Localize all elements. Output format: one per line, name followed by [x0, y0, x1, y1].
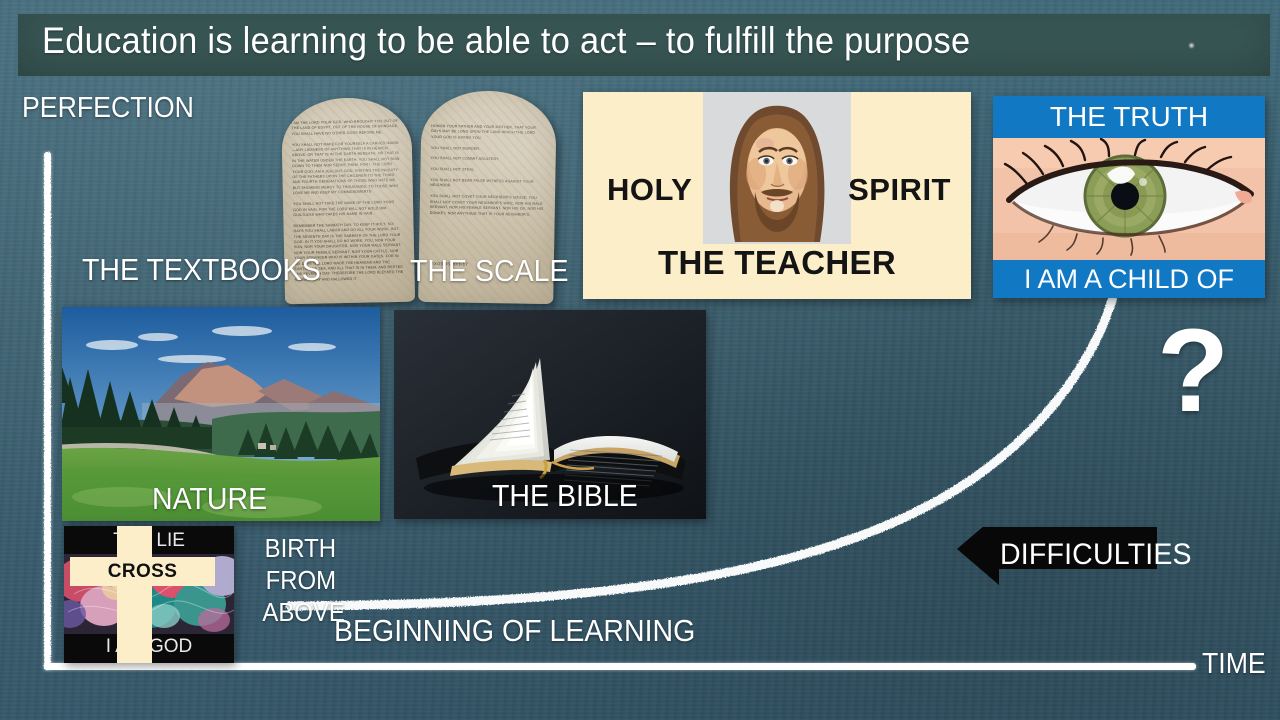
teacher-holy-label: HOLY	[607, 172, 692, 208]
label-textbooks: THE TEXTBOOKS	[82, 252, 321, 288]
cross-label: CROSS	[70, 557, 215, 586]
teacher-spirit-label: SPIRIT	[848, 172, 951, 208]
label-bible: THE BIBLE	[492, 478, 638, 514]
page-title: Education is learning to be able to act …	[42, 20, 970, 62]
teacher-panel: HOLY SPIRIT THE TEACHER	[583, 92, 971, 299]
birth-line-3: ABOVE	[262, 596, 336, 628]
y-axis	[44, 152, 51, 670]
x-axis-label: TIME	[1202, 648, 1266, 681]
cross-vertical-bar	[117, 526, 152, 663]
birth-from-above-label: BIRTH FROM ABOVE	[256, 532, 336, 628]
eye-top-banner: THE TRUTH	[993, 96, 1265, 138]
tablet-right-text: HONOR YOUR FATHER AND YOUR MOTHER, THAT …	[430, 124, 547, 218]
teacher-caption: THE TEACHER	[583, 244, 971, 282]
slide-canvas: Education is learning to be able to act …	[0, 0, 1280, 720]
x-axis	[44, 663, 1196, 670]
birth-line-2: FROM	[262, 564, 336, 596]
eye-image	[993, 138, 1265, 260]
label-nature: NATURE	[152, 481, 267, 517]
question-mark-icon: ?	[1157, 312, 1229, 430]
difficulties-label: DIFFICULTIES	[1000, 538, 1192, 572]
birth-line-1: BIRTH	[262, 532, 336, 564]
y-axis-label: PERFECTION	[22, 92, 194, 125]
label-beginning-of-learning: BEGINNING OF LEARNING	[334, 613, 695, 649]
label-scale: THE SCALE	[410, 253, 568, 289]
truth-eye-panel: THE TRUTH	[993, 96, 1265, 298]
eye-bottom-banner: I AM A CHILD OF GOD	[993, 260, 1265, 298]
jesus-portrait-image	[703, 92, 851, 244]
